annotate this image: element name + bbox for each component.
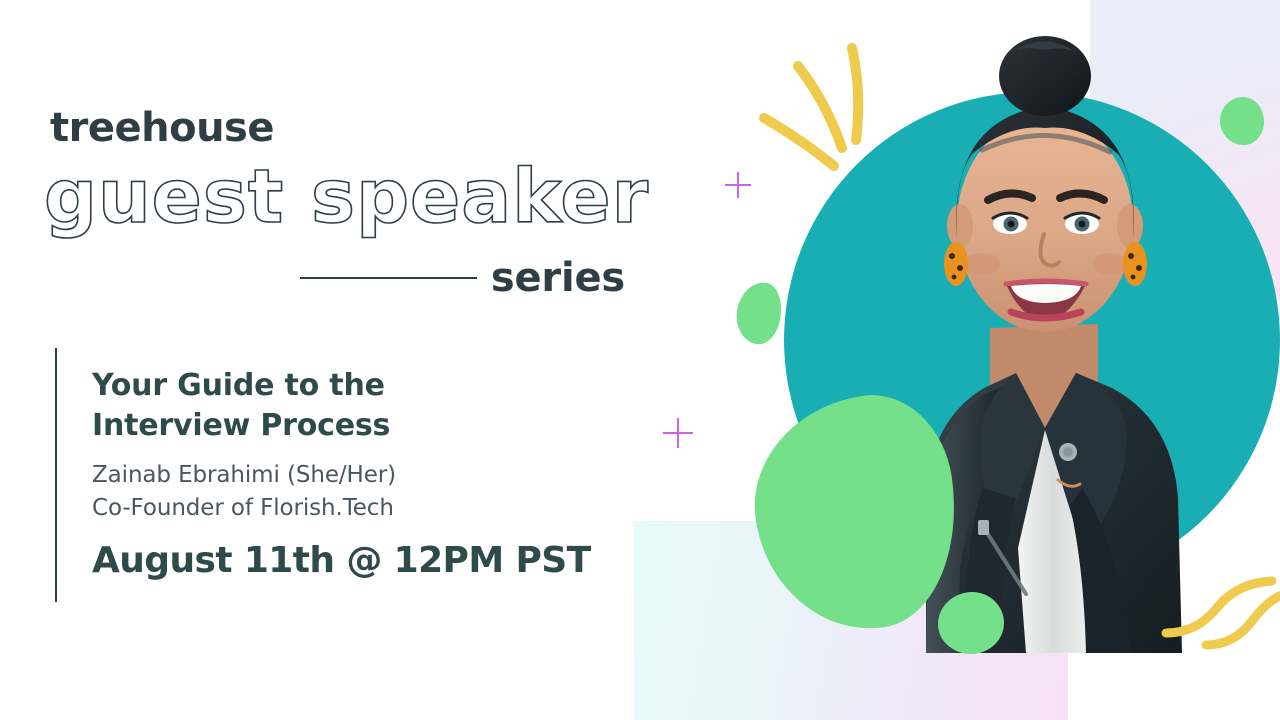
session-datetime: August 11th @ 12PM PST (92, 541, 632, 581)
brand-wordmark: treehouse (50, 108, 274, 148)
speaker-name: Zainab Ebrahimi (She/Her) (92, 459, 632, 492)
series-divider-rule (300, 277, 477, 279)
speaker-role: Co-Founder of Florish.Tech (92, 492, 632, 525)
green-blob-small-shape (731, 278, 787, 348)
plus-cross-icon-lower (663, 418, 693, 448)
vertical-accent-rule (55, 348, 57, 602)
series-row: series (300, 258, 625, 298)
headline-outline-text: guest speaker (44, 160, 649, 234)
session-title: Your Guide to the Interview Process (92, 366, 632, 445)
series-label: series (491, 258, 625, 298)
green-bubble-shape (938, 592, 1004, 654)
plus-cross-icon-upper (725, 172, 751, 198)
session-info-block: Your Guide to the Interview Process Zain… (92, 366, 632, 580)
wavy-lines-icon (1160, 575, 1280, 679)
promo-banner: treehouse guest speaker series Your Guid… (0, 0, 1280, 720)
sparkle-rays-icon (740, 30, 900, 184)
